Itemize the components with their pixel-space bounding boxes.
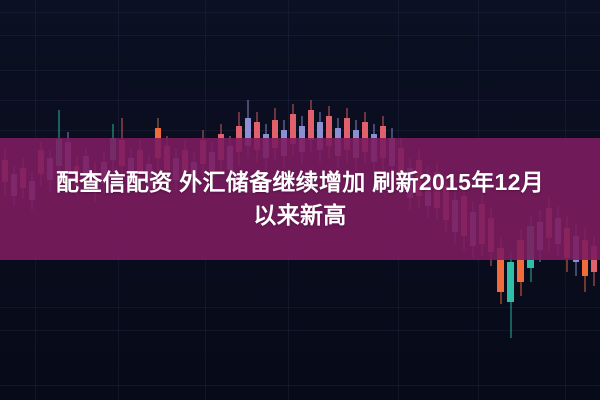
headline-line-2: 以来新高: [0, 199, 600, 232]
candlestick-body: [507, 262, 514, 302]
banner-image: 配查信配资 外汇储备继续增加 刷新2015年12月 以来新高: [0, 0, 600, 400]
headline-text: 配查信配资 外汇储备继续增加 刷新2015年12月 以来新高: [0, 166, 600, 232]
headline-line-1: 配查信配资 外汇储备继续增加 刷新2015年12月: [0, 166, 600, 199]
candlestick-body: [308, 110, 314, 140]
